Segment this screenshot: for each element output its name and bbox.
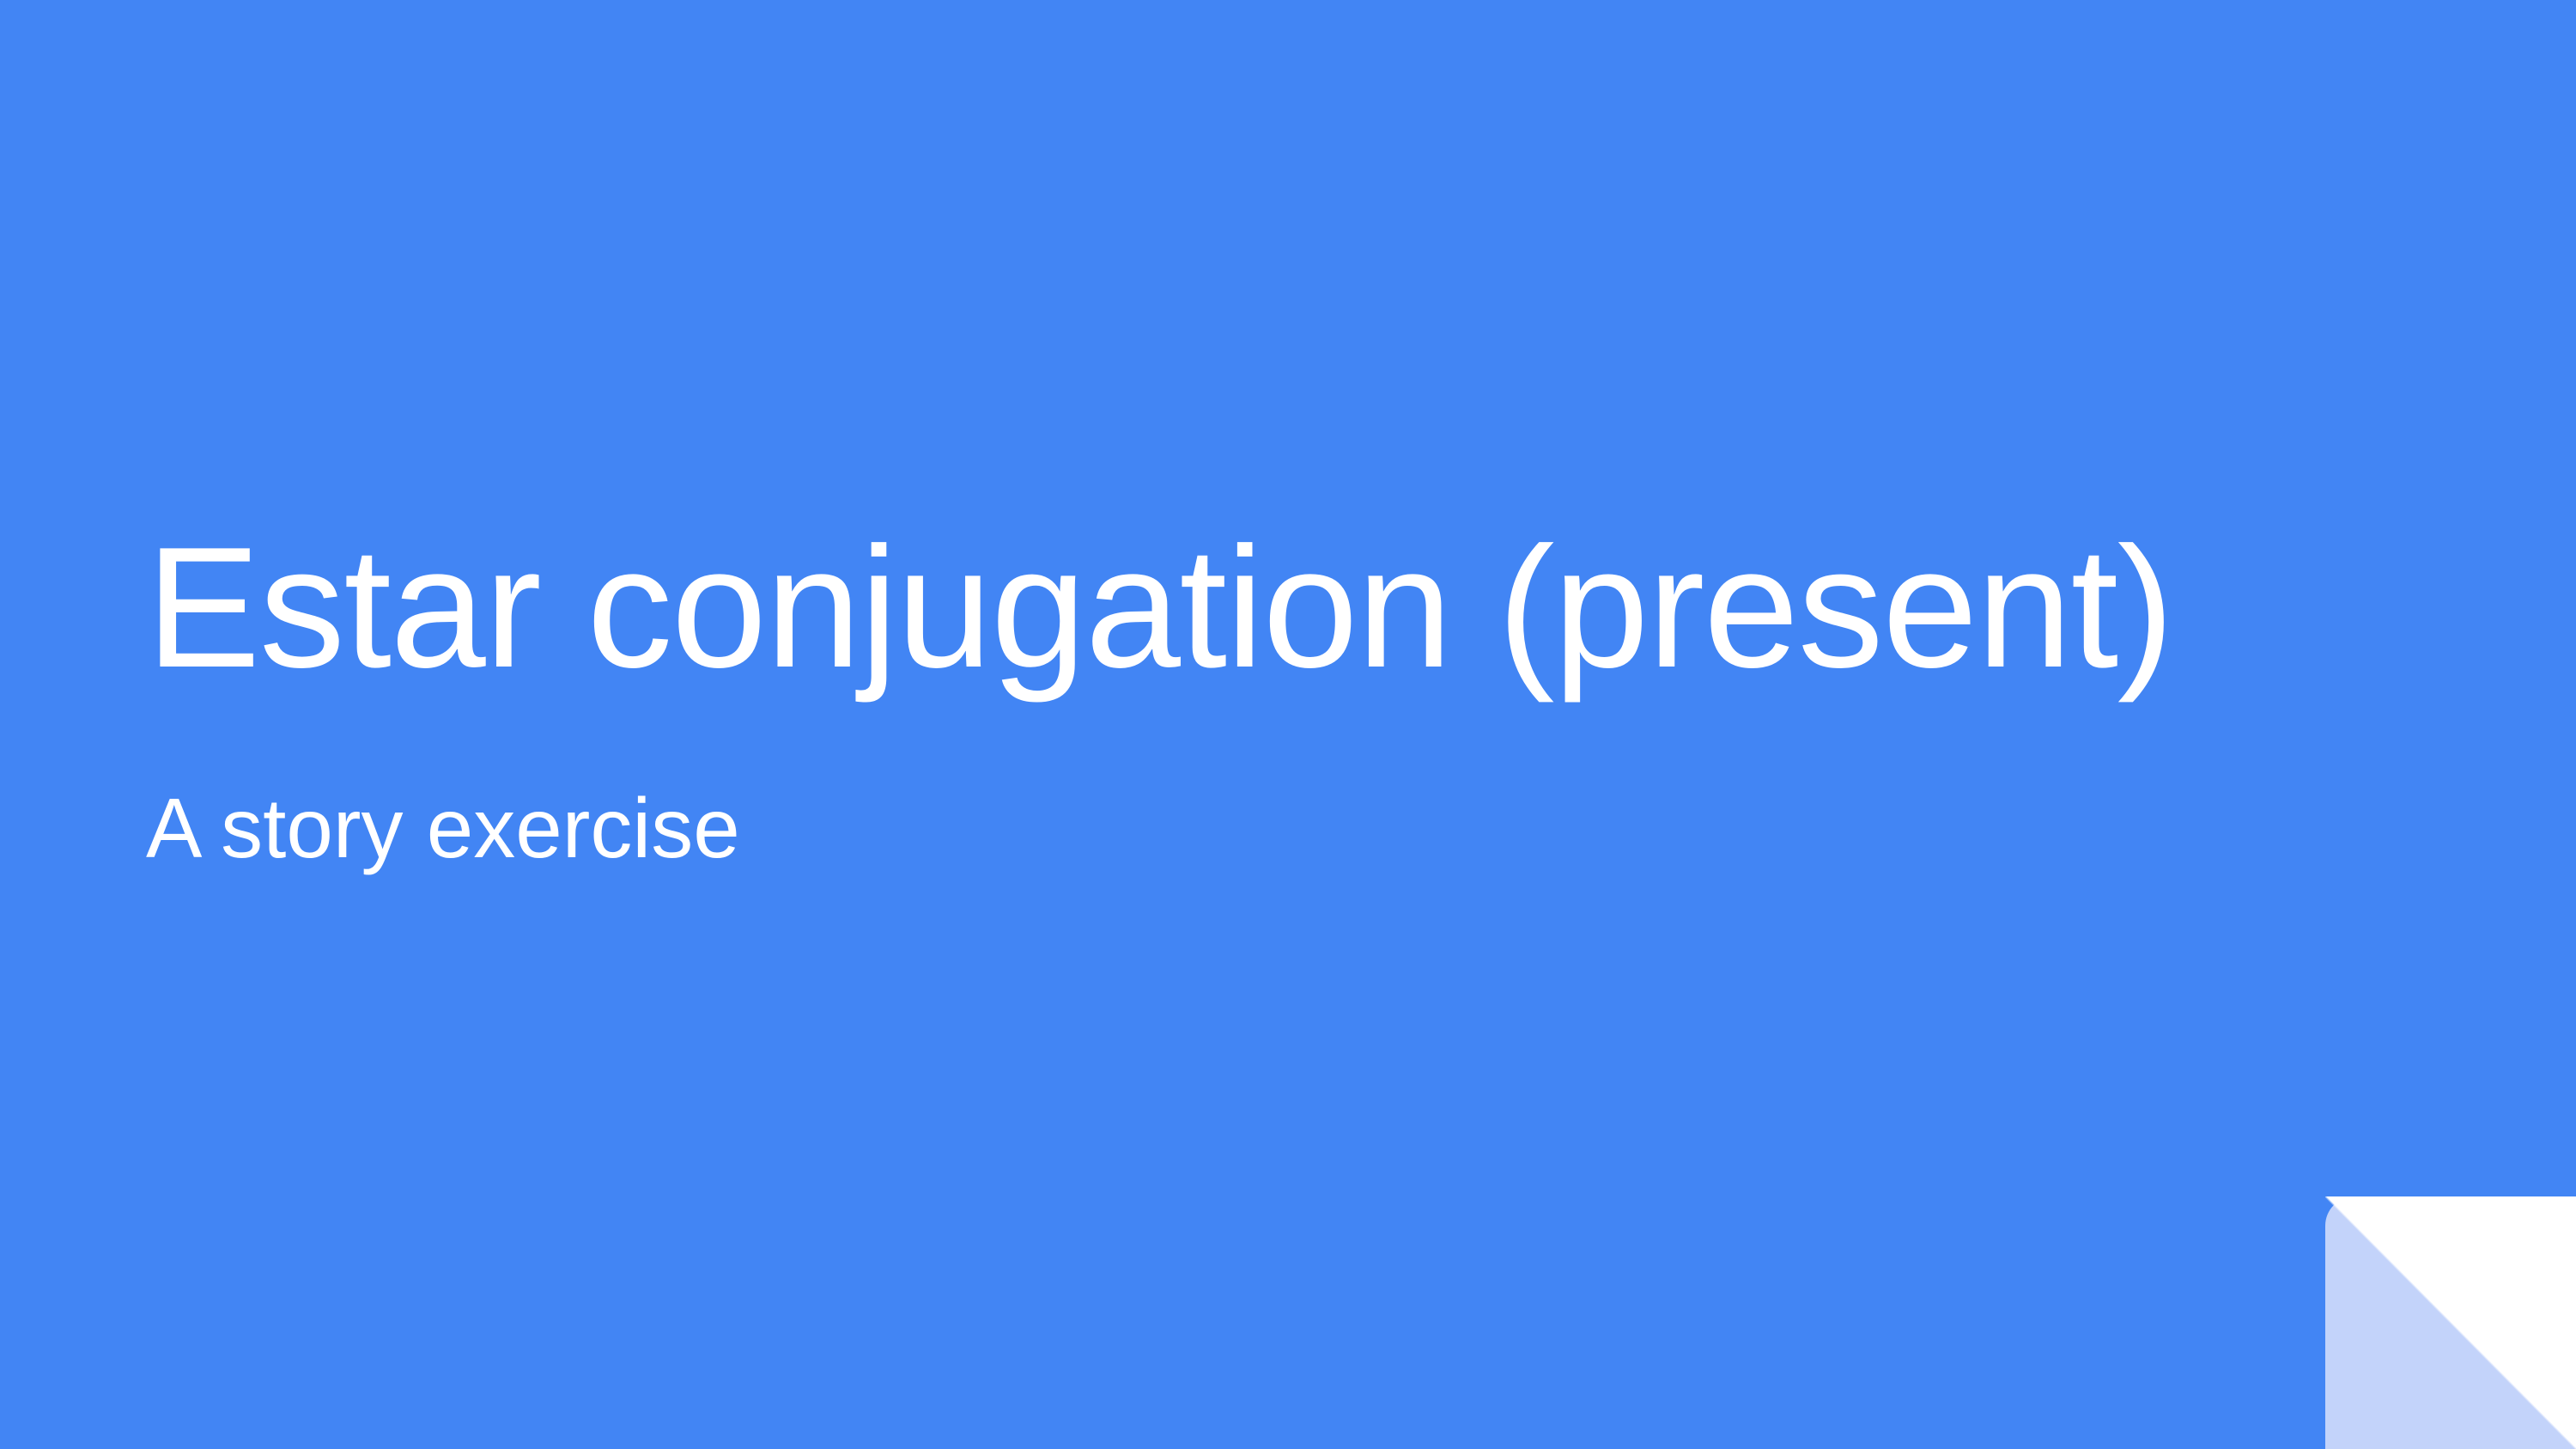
slide-text-block: Estar conjugation (present) A story exer…	[146, 515, 2293, 877]
title-slide: Estar conjugation (present) A story exer…	[0, 0, 2576, 1449]
page-fold-decoration	[2325, 1196, 2576, 1449]
page-subtitle: A story exercise	[146, 701, 2293, 877]
page-fold-cut-triangle	[2325, 1196, 2576, 1449]
page-title: Estar conjugation (present)	[146, 515, 2293, 701]
